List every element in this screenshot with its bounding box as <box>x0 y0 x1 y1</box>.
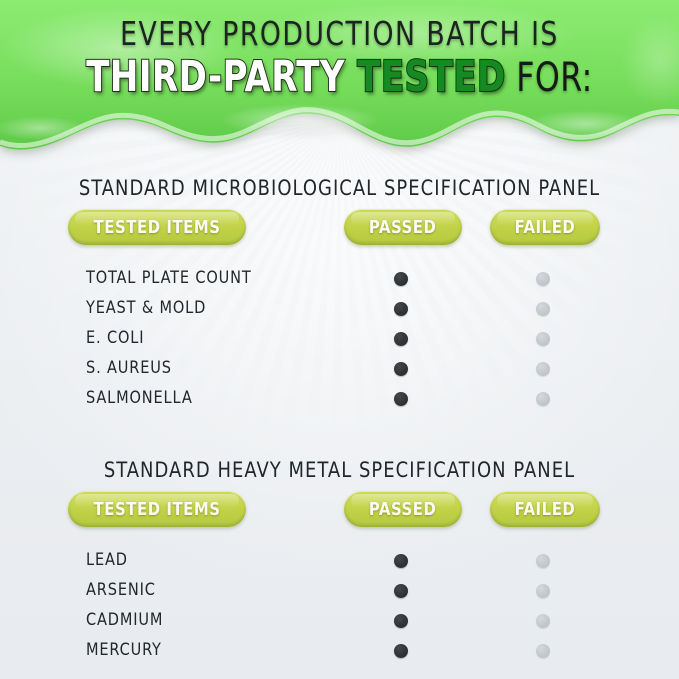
passed-dot-filled <box>394 332 408 346</box>
table-row: E. COLI <box>0 325 679 355</box>
column-header-passed-label: PASSED <box>369 499 437 520</box>
column-header-failed-label: FAILED <box>515 217 576 238</box>
panel-microbiological: STANDARD MICROBIOLOGICAL SPECIFICATION P… <box>0 168 679 415</box>
table-row: LEAD <box>0 547 679 577</box>
failed-dot-empty <box>536 272 550 286</box>
failed-dot-empty <box>536 554 550 568</box>
column-header-row-microbiological: TESTED ITEMS PASSED FAILED <box>0 209 679 257</box>
passed-dot-filled <box>394 272 408 286</box>
row-label: MERCURY <box>86 640 162 660</box>
column-header-failed: FAILED <box>490 209 600 245</box>
panel-title-microbiological: STANDARD MICROBIOLOGICAL SPECIFICATION P… <box>17 168 662 200</box>
failed-dot-empty <box>536 302 550 316</box>
failed-dot-empty <box>536 332 550 346</box>
column-header-tested-items-label: TESTED ITEMS <box>93 217 220 238</box>
column-header-tested-items-label: TESTED ITEMS <box>93 499 220 520</box>
table-row: SALMONELLA <box>0 385 679 415</box>
panel-title-heavy-metal: STANDARD HEAVY METAL SPECIFICATION PANEL <box>17 452 662 482</box>
row-label: TOTAL PLATE COUNT <box>86 268 252 288</box>
column-header-row-heavy-metal: TESTED ITEMS PASSED FAILED <box>0 491 679 539</box>
column-header-passed: PASSED <box>344 209 462 245</box>
row-label: CADMIUM <box>86 610 163 630</box>
rows-heavy-metal: LEAD ARSENIC CADMIUM MERCURY <box>0 547 679 667</box>
row-label: YEAST & MOLD <box>86 298 206 318</box>
table-row: ARSENIC <box>0 577 679 607</box>
column-header-tested-items: TESTED ITEMS <box>68 209 246 245</box>
failed-dot-empty <box>536 392 550 406</box>
row-label: LEAD <box>86 550 128 570</box>
table-row: MERCURY <box>0 637 679 667</box>
rows-microbiological: TOTAL PLATE COUNT YEAST & MOLD E. COLI S… <box>0 265 679 415</box>
failed-dot-empty <box>536 614 550 628</box>
page-root: EVERY PRODUCTION BATCH IS THIRD-PARTYTES… <box>0 0 679 679</box>
row-label: S. AUREUS <box>86 358 172 378</box>
column-header-failed-label: FAILED <box>515 499 576 520</box>
row-label: SALMONELLA <box>86 388 193 408</box>
passed-dot-filled <box>394 392 408 406</box>
passed-dot-filled <box>394 644 408 658</box>
column-header-failed: FAILED <box>490 491 600 527</box>
column-header-tested-items: TESTED ITEMS <box>68 491 246 527</box>
table-row: CADMIUM <box>0 607 679 637</box>
panel-heavy-metal: STANDARD HEAVY METAL SPECIFICATION PANEL… <box>0 452 679 667</box>
row-label: E. COLI <box>86 328 144 348</box>
table-row: S. AUREUS <box>0 355 679 385</box>
passed-dot-filled <box>394 614 408 628</box>
column-header-passed: PASSED <box>344 491 462 527</box>
passed-dot-filled <box>394 584 408 598</box>
green-slime-drip-shape <box>0 0 679 168</box>
failed-dot-empty <box>536 644 550 658</box>
failed-dot-empty <box>536 362 550 376</box>
table-row: TOTAL PLATE COUNT <box>0 265 679 295</box>
passed-dot-filled <box>394 302 408 316</box>
passed-dot-filled <box>394 362 408 376</box>
failed-dot-empty <box>536 584 550 598</box>
row-label: ARSENIC <box>86 580 156 600</box>
column-header-passed-label: PASSED <box>369 217 437 238</box>
header-banner: EVERY PRODUCTION BATCH IS THIRD-PARTYTES… <box>0 0 679 168</box>
table-row: YEAST & MOLD <box>0 295 679 325</box>
passed-dot-filled <box>394 554 408 568</box>
